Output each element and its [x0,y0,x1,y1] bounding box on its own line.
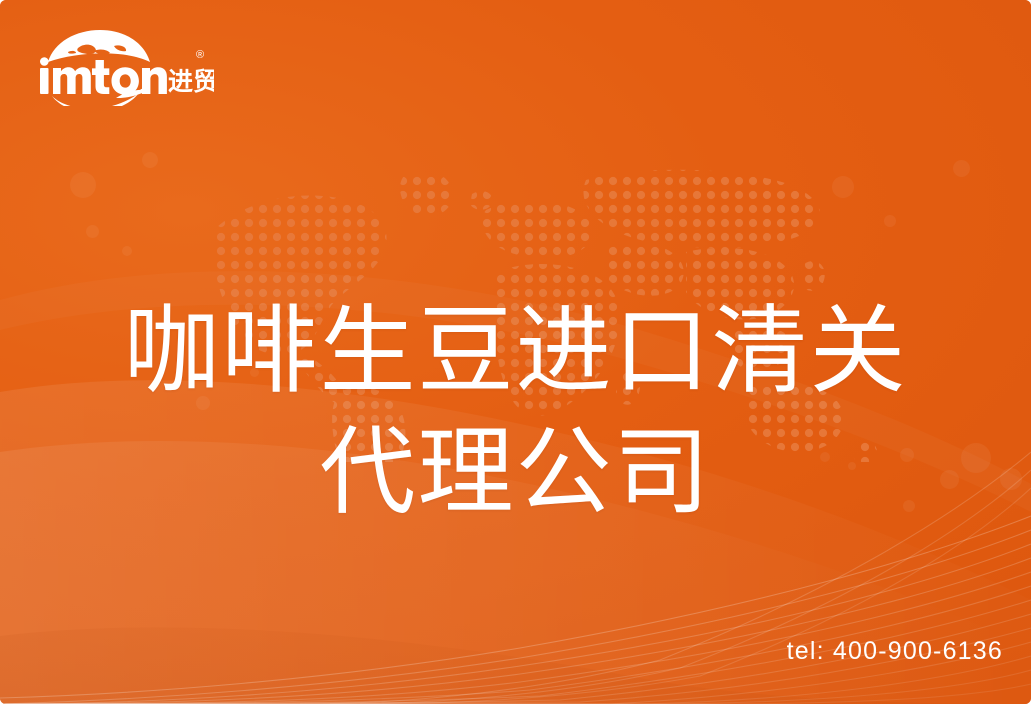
logo-mark: 进贸通 ® [38,28,214,106]
svg-text:进贸通: 进贸通 [168,67,214,96]
brand-logo[interactable]: 进贸通 ® [38,28,214,106]
registered-mark-icon: ® [196,49,204,61]
headline-line-1: 咖啡生豆进口清关 [0,292,1031,413]
headline-line-2: 代理公司 [0,413,1031,534]
telephone-text: tel: 400-900-6136 [787,637,1003,666]
svg-text:®: ® [196,49,204,61]
headline: 咖啡生豆进口清关 代理公司 [0,292,1031,534]
wordmark-chinese: 进贸通 [168,67,214,96]
banner-canvas: 进贸通 ® 咖啡生豆进口清关 代理公司 tel: 400-900-6136 [0,0,1031,704]
